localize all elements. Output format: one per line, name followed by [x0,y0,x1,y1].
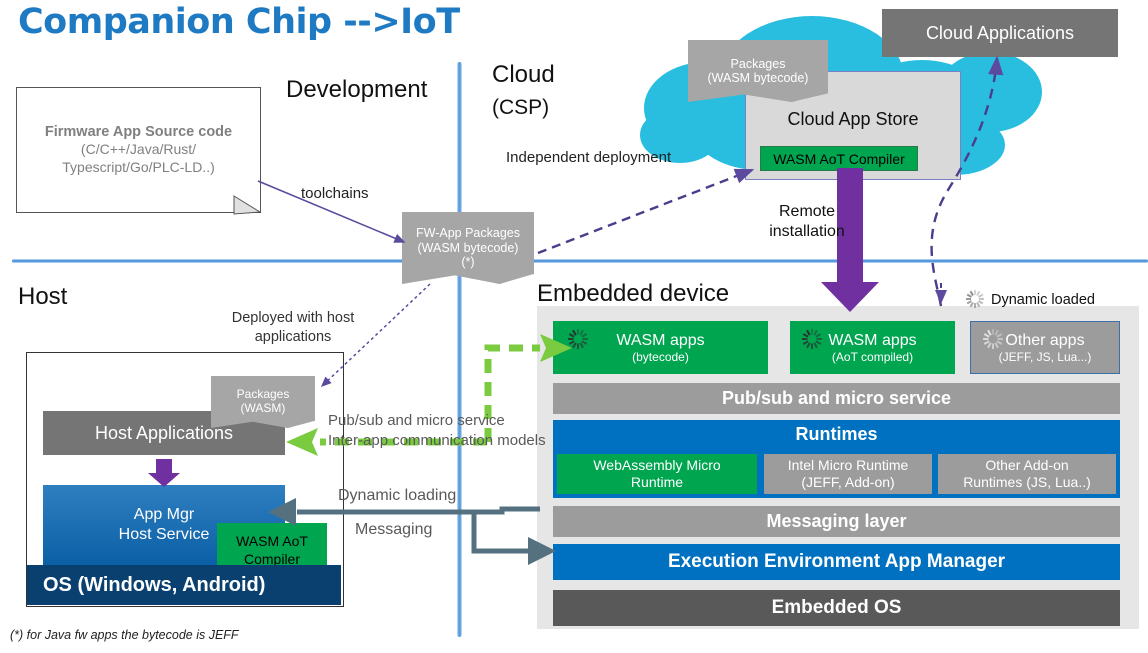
embedded-app-1-line2: (AoT compiled) [832,350,913,364]
embedded-pubsub-bar[interactable]: Pub/sub and micro service [553,383,1120,414]
embedded-app-manager-bar[interactable]: Execution Environment App Manager [553,544,1120,580]
arrow-independent-deployment [538,170,752,253]
cloud-wasm-aot-compiler-label: WASM AoT Compiler [773,151,904,167]
host-packages-line2: (WASM) [241,402,286,416]
embedded-runtimes-title: Runtimes [553,424,1120,445]
cloud-app-store-title: Cloud App Store [746,109,960,130]
cloud-applications-box[interactable]: Cloud Applications [882,9,1118,57]
embedded-messaging-label: Messaging layer [766,511,906,532]
label-remote-installation: Remote installation [762,202,852,242]
cloud-packages-callout: Packages (WASM bytecode) [688,40,828,102]
label-deployed-line1: Deployed with host [208,309,378,328]
embedded-runtime-1-line2: (JEFF, Add-on) [801,474,894,491]
embedded-runtime-0-line1: WebAssembly Micro [593,457,720,474]
label-remote-installation-line1: Remote [762,202,852,222]
host-packages-callout: Packages (WASM) [211,376,315,428]
embedded-app-0-line1: WASM apps [616,331,704,350]
embedded-runtime-0-line2: Runtime [631,474,683,491]
label-deployed-line2: applications [208,328,378,347]
footnote: (*) for Java fw apps the bytecode is JEF… [10,628,239,642]
embedded-runtime-2-line1: Other Add-on [985,457,1068,474]
embedded-app-1-line1: WASM apps [828,331,916,350]
embedded-app-manager-label: Execution Environment App Manager [668,551,1005,573]
embedded-runtime-1[interactable]: Intel Micro Runtime (JEFF, Add-on) [764,454,932,494]
host-os-box[interactable]: OS (Windows, Android) [27,565,341,605]
label-toolchains: toolchains [301,185,369,204]
source-line3: Typescript/Go/PLC-LD..) [62,159,215,177]
embedded-app-2[interactable]: Other apps (JEFF, JS, Lua...) [970,321,1120,374]
label-deployed-with-host: Deployed with host applications [208,309,378,347]
divider-horizontal-left [12,259,432,263]
app-mgr-line2: Host Service [119,525,210,545]
section-heading-cloud: Cloud [492,61,555,89]
source-line2: (C/C++/Java/Rust/ [81,141,196,159]
section-heading-host: Host [18,283,67,311]
divider-horizontal-right [496,259,1148,263]
embedded-pubsub-label: Pub/sub and micro service [722,388,951,409]
embedded-os-bar[interactable]: Embedded OS [553,590,1120,626]
embedded-app-1[interactable]: WASM apps (AoT compiled) [790,321,955,374]
host-aot-line1: WASM AoT [236,533,308,551]
divider-vertical [457,62,462,637]
label-independent-deployment: Independent deployment [506,149,671,168]
label-pubsub-interapp: Pub/sub and micro service Inter-app comm… [328,411,546,452]
fw-packages-line2: (WASM bytecode) [418,241,519,255]
embedded-os-label: Embedded OS [772,597,902,619]
fw-app-packages-callout: FW-App Packages (WASM bytecode) (*) [402,212,534,284]
host-os-label: OS (Windows, Android) [43,574,265,597]
label-messaging: Messaging [355,521,432,539]
page-title: Companion Chip -->IoT [18,2,460,42]
cloud-packages-line2: (WASM bytecode) [708,71,809,85]
cloud-applications-label: Cloud Applications [926,23,1074,44]
embedded-runtime-2-line2: Runtimes (JS, Lua..) [963,474,1091,491]
embedded-app-0[interactable]: WASM apps (bytecode) [553,321,768,374]
fw-packages-line3: (*) [461,255,474,269]
embedded-app-0-line2: (bytecode) [632,350,689,364]
section-heading-embedded-device: Embedded device [537,280,729,308]
label-dynamic-loaded: Dynamic loaded [991,292,1095,308]
label-pubsub-line1: Pub/sub and micro service [328,411,546,431]
host-packages-line1: Packages [237,388,290,402]
firmware-source-code-box: Firmware App Source code (C/C++/Java/Rus… [16,87,261,213]
embedded-runtime-0[interactable]: WebAssembly Micro Runtime [557,454,757,494]
cloud-wasm-aot-compiler-box[interactable]: WASM AoT Compiler [760,146,918,171]
label-remote-installation-line2: installation [762,222,852,242]
embedded-runtime-1-line1: Intel Micro Runtime [788,457,909,474]
label-dynamic-loading: Dynamic loading [338,487,456,505]
embedded-runtime-2[interactable]: Other Add-on Runtimes (JS, Lua..) [938,454,1116,494]
label-pubsub-line2: Inter-app communication models [328,431,546,451]
source-heading: Firmware App Source code [45,123,232,142]
embedded-app-2-line1: Other apps [1005,331,1084,350]
section-subheading-csp: (CSP) [492,96,549,120]
embedded-app-2-line2: (JEFF, JS, Lua...) [999,350,1092,364]
arrow-messaging [474,512,528,551]
fw-packages-line1: FW-App Packages [416,226,520,240]
app-mgr-line1: App Mgr [134,505,194,525]
cloud-packages-line1: Packages [731,57,786,71]
section-heading-development: Development [286,76,427,104]
embedded-messaging-layer-bar[interactable]: Messaging layer [553,506,1120,537]
